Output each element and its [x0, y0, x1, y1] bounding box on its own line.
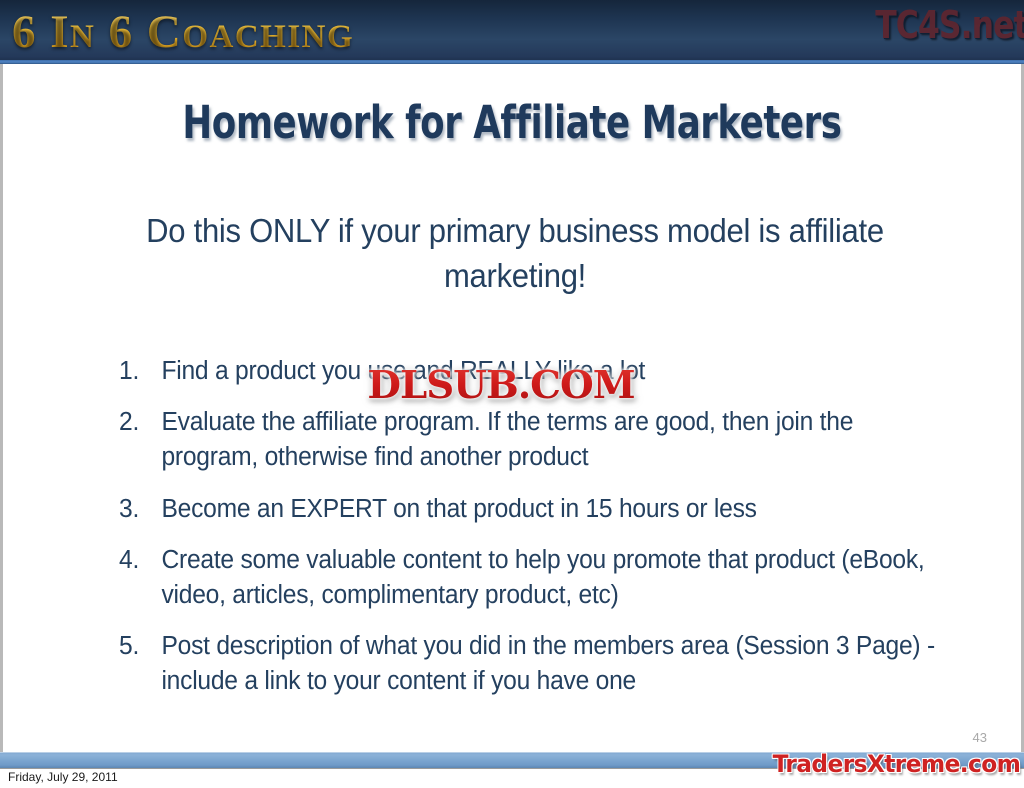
list-item-text: Create some valuable content to help you… [161, 546, 924, 609]
slide-subtitle: Do this ONLY if your primary business mo… [128, 209, 903, 299]
list-item-text: Become an EXPERT on that product in 15 h… [161, 495, 756, 523]
list-item: 3. Become an EXPERT on that product in 1… [119, 492, 935, 527]
list-item: 5. Post description of what you did in t… [119, 629, 935, 699]
list-item: 4. Create some valuable content to help … [119, 543, 935, 613]
list-item-number: 3. [119, 492, 148, 527]
slide-content-area: Homework for Affiliate Marketers Do this… [0, 64, 1024, 752]
list-item-number: 1. [119, 354, 148, 389]
dlsub-watermark: DLSUB.COM [367, 362, 634, 408]
presentation-slide: 6 In 6 Coaching TC4S.net Homework for Af… [0, 0, 1024, 788]
brand-title: 6 In 6 Coaching [12, 2, 354, 62]
list-item-number: 4. [119, 543, 148, 578]
homework-task-list: 1. Find a product you use and REALLY lik… [119, 354, 965, 716]
list-item-text: Evaluate the affiliate program. If the t… [161, 408, 853, 471]
footer-date: Friday, July 29, 2011 [8, 770, 118, 784]
footer-logo-tradersxtreme: TradersXtreme.com [772, 748, 1020, 780]
list-item: 2. Evaluate the affiliate program. If th… [119, 405, 935, 475]
list-item-number: 5. [119, 629, 148, 664]
header-banner: 6 In 6 Coaching TC4S.net [0, 0, 1024, 64]
slide-title: Homework for Affiliate Marketers [64, 96, 960, 149]
page-number: 43 [973, 730, 987, 745]
list-item-text: Post description of what you did in the … [161, 632, 934, 695]
list-item-number: 2. [119, 405, 148, 440]
site-logo-tc4s: TC4S.net [876, 0, 1024, 50]
